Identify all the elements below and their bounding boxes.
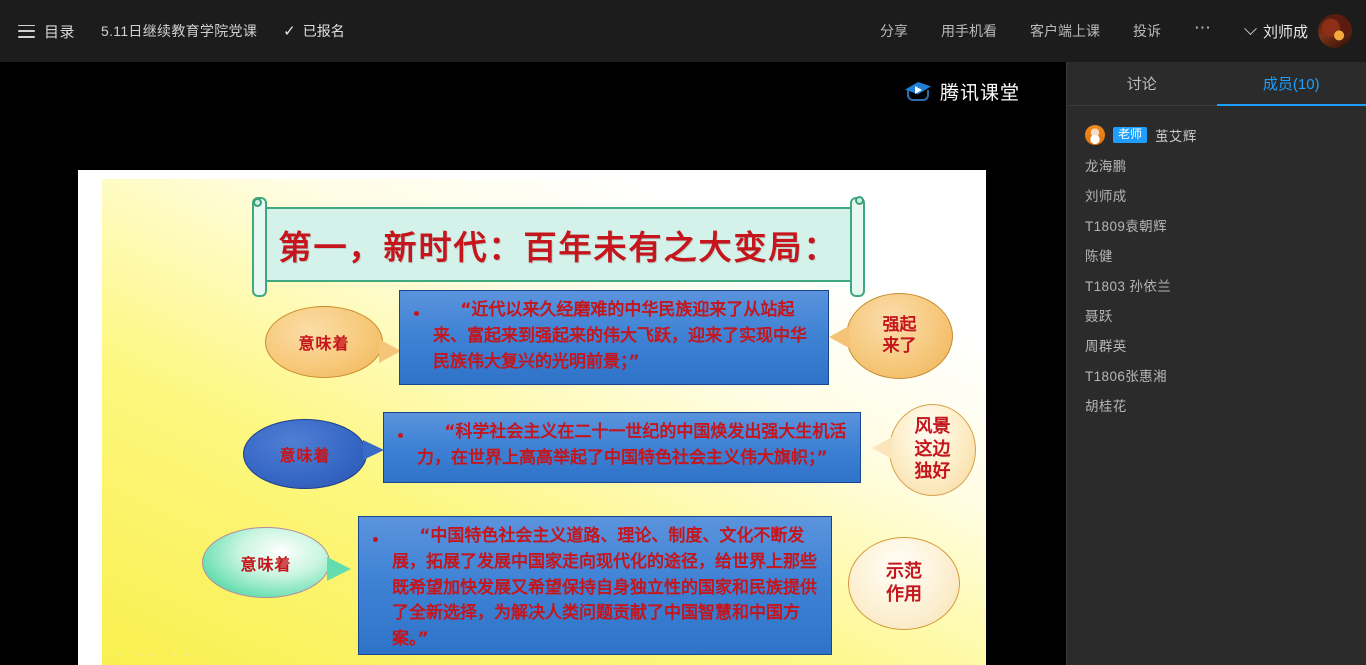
member-name: 龙海鹏 [1085, 155, 1127, 175]
callout-2-line-2: 这边 [915, 439, 951, 462]
bubble-tail-icon [379, 339, 401, 363]
member-name: 聂跃 [1085, 305, 1113, 325]
member-name: 周群英 [1085, 335, 1127, 355]
member-list-item[interactable]: 周群英 [1067, 330, 1366, 360]
scroll-curl-right-icon [855, 196, 864, 205]
callout-2-line-3: 独好 [915, 461, 951, 484]
bubble-tail-icon [363, 440, 384, 460]
content-textbox-2-text: “科学社会主义在二十一世纪的中国焕发出强大生机活力，在世界上高高举起了中国特色社… [417, 420, 848, 472]
bullet-icon [414, 311, 419, 316]
callout-1-line-2: 来了 [883, 336, 917, 357]
meaning-bubble-1-label: 意味着 [298, 330, 349, 354]
enrolled-label: 已报名 [303, 21, 345, 41]
member-name: T1809袁朝辉 [1085, 215, 1167, 235]
course-title: 5.11日继续教育学院党课 [101, 21, 257, 41]
member-name: T1806张惠湘 [1085, 365, 1167, 385]
topbar-left-group: 目录 5.11日继续教育学院党课 ✓ 已报名 [0, 21, 345, 42]
callout-3: 示范 作用 [848, 537, 960, 630]
meaning-bubble-1: 意味着 [265, 306, 383, 378]
member-list-item[interactable]: T1803 孙依兰 [1067, 270, 1366, 300]
tab-discussion[interactable]: 讨论 [1067, 62, 1217, 105]
callout-2-line-1: 风景 [915, 416, 951, 439]
bullet-icon [398, 433, 403, 438]
hamburger-icon[interactable] [18, 25, 35, 38]
content-textbox-3-text: “中国特色社会主义道路、理论、制度、文化不断发展，拓展了发展中国家走向现代化的途… [392, 524, 819, 653]
enrolled-status: ✓ 已报名 [283, 21, 345, 41]
member-list-item[interactable]: T1809袁朝辉 [1067, 210, 1366, 240]
graduation-cap-play-icon [905, 79, 931, 105]
content-textbox-1: “近代以来久经磨难的中华民族迎来了从站起来、富起来到强起来的伟大飞跃，迎来了实现… [399, 290, 829, 385]
member-list-item[interactable]: 聂跃 [1067, 300, 1366, 330]
member-list-item[interactable]: 陈健 [1067, 240, 1366, 270]
meaning-bubble-2-label: 意味着 [279, 442, 330, 466]
watermark-label: 腾讯课堂 [940, 78, 1020, 105]
member-list-item[interactable]: 胡桂花 [1067, 390, 1366, 420]
member-name: 刘师成 [1085, 185, 1127, 205]
watch-on-phone-button[interactable]: 用手机看 [941, 21, 997, 41]
member-name: T1803 孙依兰 [1085, 275, 1171, 295]
teacher-badge: 老师 [1113, 127, 1147, 144]
content-textbox-2: “科学社会主义在二十一世纪的中国焕发出强大生机活力，在世界上高高举起了中国特色社… [383, 412, 861, 483]
topbar-right-group: 分享 用手机看 客户端上课 投诉 ⋯ 刘师成 [847, 14, 1366, 48]
more-options-icon[interactable]: ⋯ [1194, 23, 1213, 40]
member-list-item[interactable]: T1806张惠湘 [1067, 360, 1366, 390]
username-label: 刘师成 [1263, 21, 1308, 42]
user-menu[interactable]: 刘师成 [1246, 21, 1308, 42]
tencent-classroom-watermark: 腾讯课堂 [905, 78, 1020, 105]
member-name: 陈健 [1085, 245, 1113, 265]
callout-3-line-2: 作用 [886, 584, 922, 607]
member-name: 胡桂花 [1085, 395, 1127, 415]
content-textbox-1-text: “近代以来久经磨难的中华民族迎来了从站起来、富起来到强起来的伟大飞跃，迎来了实现… [433, 298, 816, 375]
meaning-bubble-3-label: 意味着 [240, 551, 291, 575]
member-avatar [1085, 125, 1105, 145]
slide-bottom-marks: ᐧ ᐧᐧ ᐧᐧ [116, 648, 196, 664]
member-name: 茧艾辉 [1155, 125, 1197, 145]
client-class-button[interactable]: 客户端上课 [1030, 21, 1100, 41]
bullet-icon [373, 537, 378, 542]
side-panel: 讨论 成员(10) 老师茧艾辉龙海鹏刘师成T1809袁朝辉陈健T1803 孙依兰… [1066, 62, 1366, 665]
panel-tabs: 讨论 成员(10) [1067, 62, 1366, 106]
scroll-curl-left-icon [253, 198, 262, 207]
complain-button[interactable]: 投诉 [1133, 21, 1161, 41]
member-list-item[interactable]: 刘师成 [1067, 180, 1366, 210]
member-list-item[interactable]: 龙海鹏 [1067, 150, 1366, 180]
member-list: 老师茧艾辉龙海鹏刘师成T1809袁朝辉陈健T1803 孙依兰聂跃周群英T1806… [1067, 106, 1366, 420]
slide-title: 第一，新时代：百年未有之大变局： [259, 209, 858, 280]
member-list-item[interactable]: 老师茧艾辉 [1067, 120, 1366, 150]
slide-title-box: 第一，新时代：百年未有之大变局： [257, 207, 860, 282]
chevron-down-icon [1244, 22, 1257, 35]
callout-1: 强起 来了 [846, 293, 953, 379]
share-button[interactable]: 分享 [880, 21, 908, 41]
callout-3-line-1: 示范 [886, 561, 922, 584]
slide-canvas: 第一，新时代：百年未有之大变局： 意味着 “近代以来久经磨难的中华民族迎来了从站… [102, 179, 986, 665]
tab-members[interactable]: 成员(10) [1217, 62, 1366, 105]
content-textbox-3: “中国特色社会主义道路、理论、制度、文化不断发展，拓展了发展中国家走向现代化的途… [358, 516, 832, 655]
callout-2: 风景 这边 独好 [889, 404, 976, 496]
avatar[interactable] [1318, 14, 1352, 48]
meaning-bubble-2: 意味着 [243, 419, 367, 489]
callout-tail-icon [872, 437, 892, 459]
callout-tail-icon [829, 326, 849, 348]
presentation-slide: 第一，新时代：百年未有之大变局： 意味着 “近代以来久经磨难的中华民族迎来了从站… [78, 170, 986, 665]
catalog-button[interactable]: 目录 [44, 21, 75, 42]
top-bar: 目录 5.11日继续教育学院党课 ✓ 已报名 分享 用手机看 客户端上课 投诉 … [0, 0, 1366, 62]
check-icon: ✓ [283, 24, 296, 39]
callout-1-line-1: 强起 [883, 315, 917, 336]
bubble-tail-icon [327, 557, 351, 581]
meaning-bubble-3: 意味着 [202, 527, 330, 598]
video-stage[interactable]: 腾讯课堂 第一，新时代：百年未有之大变局： 意味着 “近代以来久经磨难的中华民族… [0, 62, 1066, 665]
